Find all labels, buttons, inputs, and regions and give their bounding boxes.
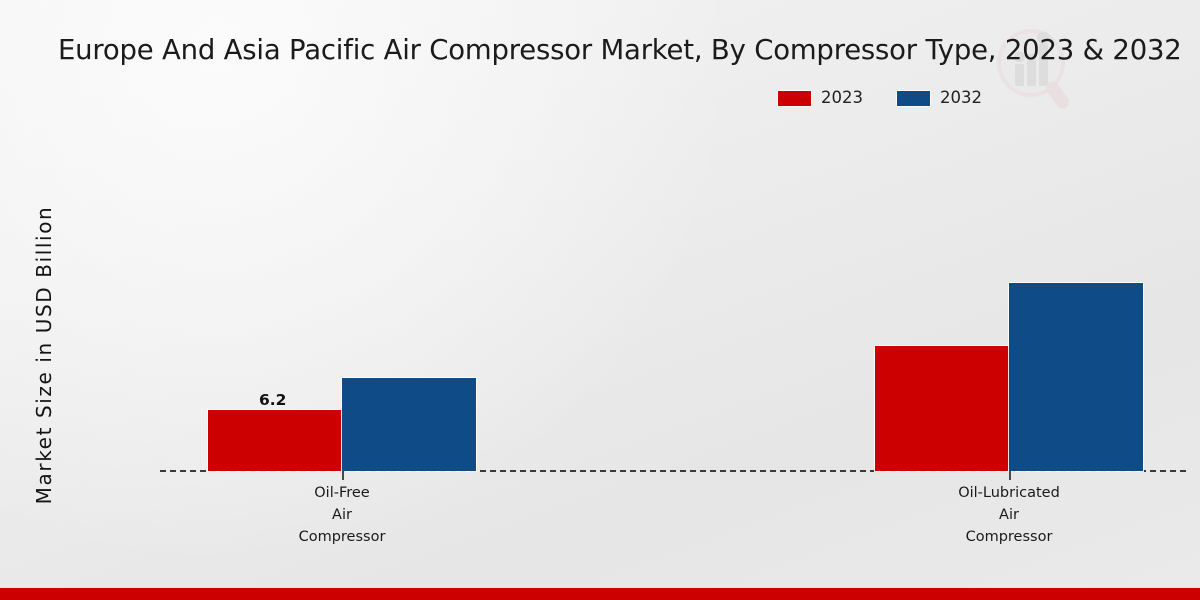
- bar-2032-oil-lubricated[interactable]: [1009, 283, 1143, 471]
- bar-2023-oil-lubricated[interactable]: [875, 346, 1009, 471]
- x-axis-tick-oil-free: [342, 471, 344, 480]
- x-axis-tick-oil-lubricated: [1009, 471, 1011, 480]
- x-axis-label-oil-lubricated: Oil-Lubricated Air Compressor: [899, 482, 1119, 548]
- bar-2032-oil-free[interactable]: [342, 378, 476, 471]
- footer-accent-bar: [0, 588, 1200, 600]
- bar-2023-oil-free[interactable]: [208, 410, 342, 471]
- chart-container: Europe And Asia Pacific Air Compressor M…: [0, 0, 1200, 600]
- plot-area: 6.2 Oil-Free Air Compressor Oil-Lubricat…: [0, 0, 1200, 600]
- x-axis-label-oil-free: Oil-Free Air Compressor: [232, 482, 452, 548]
- bar-value-label-oil-free-2023: 6.2: [259, 391, 286, 409]
